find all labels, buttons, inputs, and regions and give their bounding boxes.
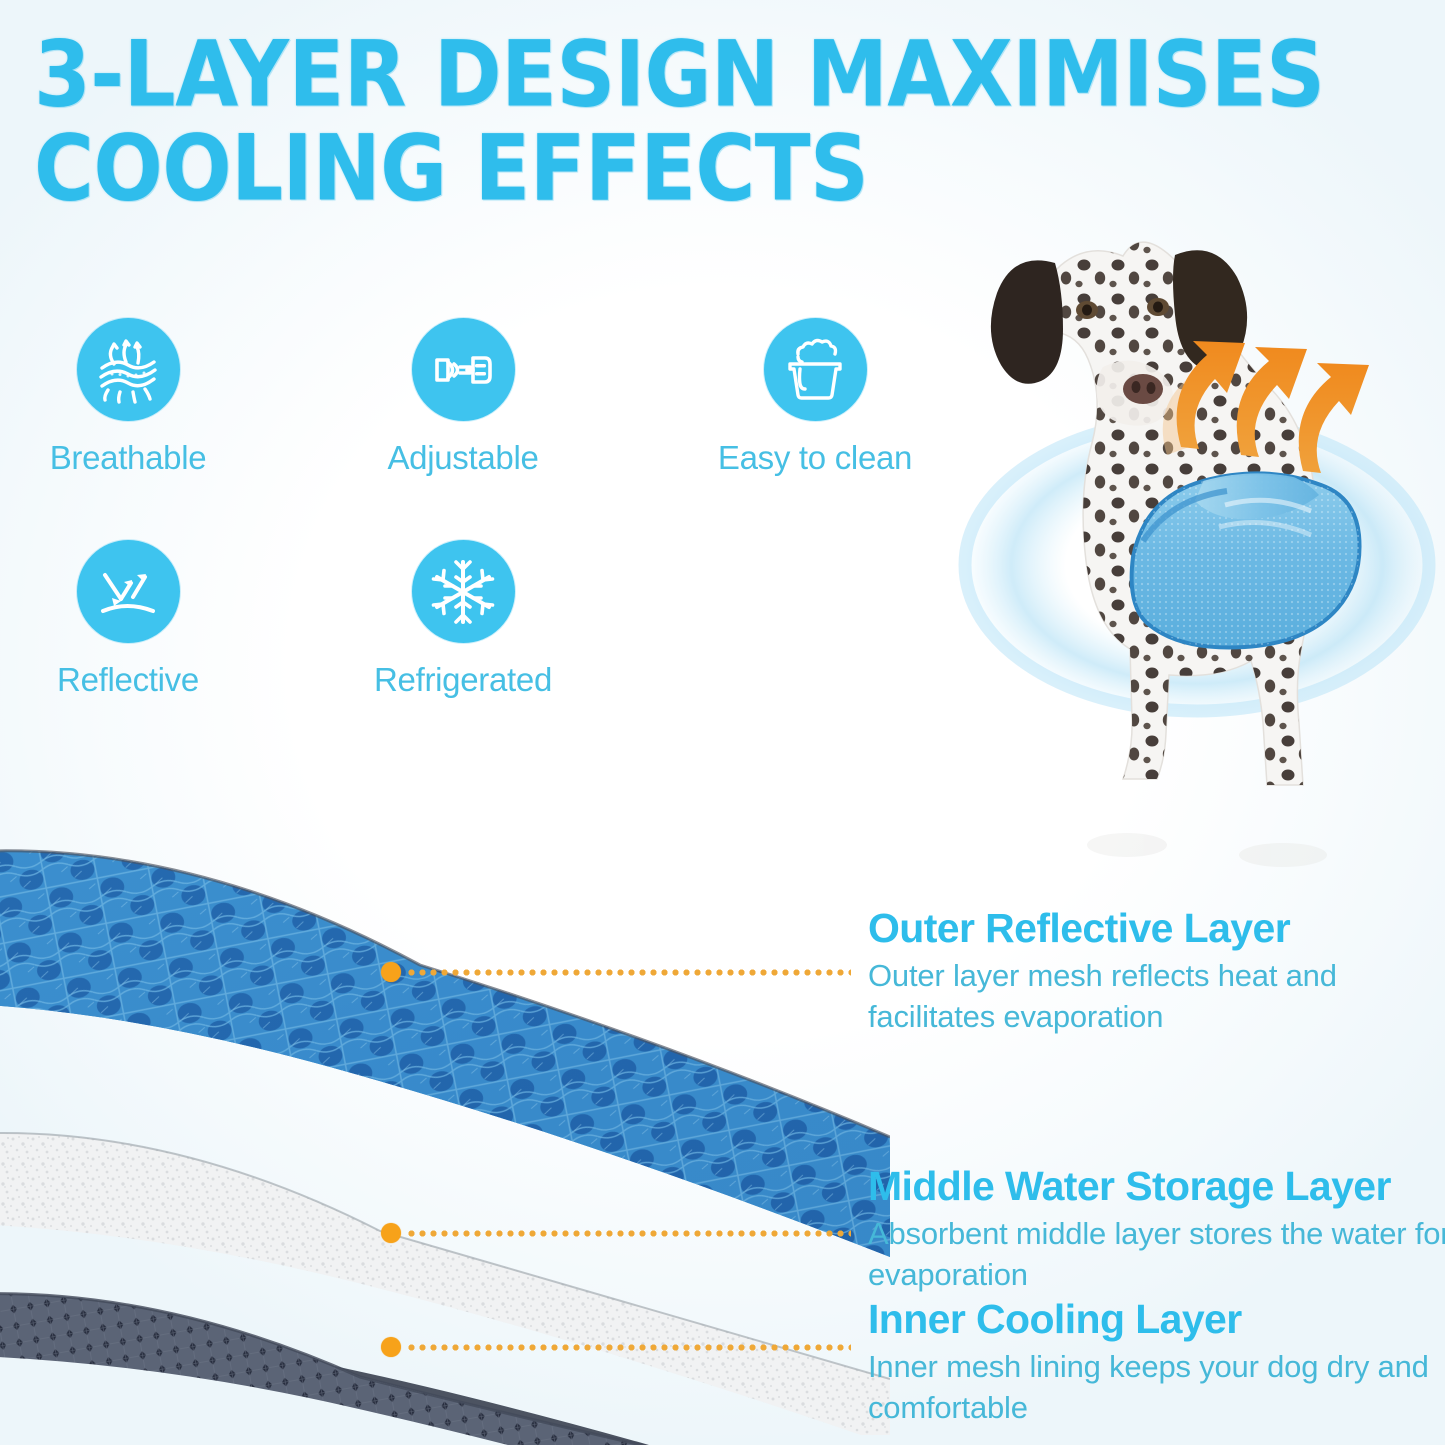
- callout-title: Outer Reflective Layer: [868, 905, 1445, 951]
- callout-middle-water-storage-layer: Middle Water Storage Layer Absorbent mid…: [868, 1163, 1445, 1295]
- wash-basin-suds-icon: [764, 318, 867, 421]
- breathable-fabric-airflow-icon: [77, 318, 180, 421]
- leader-dot-icon: [381, 1337, 401, 1357]
- product-photo-dog-wearing-vest: [905, 155, 1445, 880]
- callout-inner-cooling-layer: Inner Cooling Layer Inner mesh lining ke…: [868, 1296, 1445, 1428]
- feature-refrigerated: Refrigerated: [348, 540, 578, 699]
- callout-description: Outer layer mesh reflects heat and facil…: [868, 955, 1445, 1037]
- leader-dot-icon: [381, 1223, 401, 1243]
- headline-line-1: 3-LAYER DESIGN MAXIMISES: [34, 31, 1221, 121]
- feature-adjustable: Adjustable: [348, 318, 578, 477]
- feature-label: Reflective: [13, 661, 243, 699]
- feature-label: Refrigerated: [348, 661, 578, 699]
- feature-label: Breathable: [13, 439, 243, 477]
- feature-label: Adjustable: [348, 439, 578, 477]
- leader-dotted-line: [406, 969, 851, 976]
- callout-description: Absorbent middle layer stores the water …: [868, 1213, 1445, 1295]
- feature-easy-to-clean: Easy to clean: [700, 318, 930, 477]
- leader-dotted-line: [406, 1230, 851, 1237]
- feature-label: Easy to clean: [700, 439, 930, 477]
- dog-ear-left: [991, 260, 1063, 383]
- headline-line-2: COOLING EFFECTS: [34, 125, 1221, 215]
- page-title: 3-LAYER DESIGN MAXIMISES COOLING EFFECTS: [34, 38, 1154, 208]
- leader-dot-icon: [381, 962, 401, 982]
- callout-description: Inner mesh lining keeps your dog dry and…: [868, 1346, 1445, 1428]
- callout-title: Middle Water Storage Layer: [868, 1163, 1445, 1209]
- leader-line-outer-layer: [381, 963, 851, 981]
- leader-dotted-line: [406, 1344, 851, 1351]
- leader-line-inner-layer: [381, 1338, 851, 1356]
- buckle-clip-icon: [412, 318, 515, 421]
- callout-title: Inner Cooling Layer: [868, 1296, 1445, 1342]
- dog-nose: [1123, 374, 1163, 404]
- infographic-page: 3-LAYER DESIGN MAXIMISES COOLING EFFECTS: [0, 0, 1445, 1445]
- feature-icon-grid: Breathable: [0, 318, 960, 762]
- feature-row-1: Breathable: [0, 318, 960, 540]
- feature-reflective: Reflective: [13, 540, 243, 699]
- feature-row-2: Reflective: [0, 540, 960, 762]
- feature-breathable: Breathable: [13, 318, 243, 477]
- leader-line-middle-layer: [381, 1224, 851, 1242]
- callout-outer-reflective-layer: Outer Reflective Layer Outer layer mesh …: [868, 905, 1445, 1037]
- reflected-arrows-surface-icon: [77, 540, 180, 643]
- snowflake-icon: [412, 540, 515, 643]
